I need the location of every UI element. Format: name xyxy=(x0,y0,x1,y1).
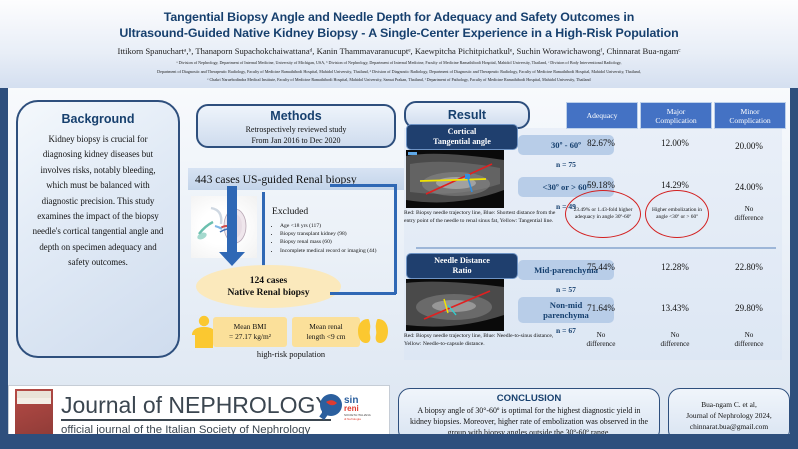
kidneys-icon xyxy=(355,316,391,346)
native-biopsy-cases-oval: 124 cases Native Renal biopsy xyxy=(196,265,341,308)
mean-renal-label: Mean renal xyxy=(309,322,342,332)
ultrasound-image-needle-distance xyxy=(406,279,504,331)
col-major-l2: Complication xyxy=(655,116,696,125)
mean-bmi-value: = 27.17 kg/m² xyxy=(229,332,271,342)
ultrasound-image-cortical-angle xyxy=(406,150,504,208)
citation-email: chinnarat.bua@gmail.com xyxy=(690,421,768,432)
mj-nodiff-l2: difference xyxy=(661,340,690,348)
annotation-adequacy-angle: 23.49% or 1.43-fold higher adequacy in a… xyxy=(565,190,641,238)
mn-nodiff-l1: No xyxy=(745,331,754,339)
total-cases-bar: 443 cases US-guided Renal biopsy xyxy=(188,168,404,190)
section-label-needle-distance-ratio: Needle DistanceRatio xyxy=(406,253,518,279)
column-header-adequacy: Adequacy xyxy=(566,102,638,129)
col-minor-l2: Complication xyxy=(729,116,770,125)
annotation-minor-needle: No difference xyxy=(714,331,784,348)
conclusion-title: CONCLUSION xyxy=(407,393,651,404)
svg-text:reni: reni xyxy=(344,404,359,413)
flow-arrow-head-icon xyxy=(219,252,245,266)
sec1-l2: Tangential angle xyxy=(433,137,491,146)
section-label-cortical-tangential-angle: CorticalTangential angle xyxy=(406,124,518,150)
affiliations-line-2: Department of Diagnostic and Therapeutic… xyxy=(0,69,798,75)
excluded-divider xyxy=(262,192,265,266)
value-adequacy-non-mid: 71.64% xyxy=(566,303,636,313)
section-divider xyxy=(416,247,776,249)
value-major-angle-30-60: 12.00% xyxy=(640,138,710,148)
mean-renal-length-box: Mean renal length <9 cm xyxy=(292,317,360,347)
methods-subtitle-2: From Jan 2016 to Dec 2020 xyxy=(198,136,394,146)
ad-nodiff-l1: No xyxy=(597,331,606,339)
citation-line-1: Bua-ngam C. et al, xyxy=(701,399,757,410)
value-minor-non-mid: 29.80% xyxy=(714,303,784,313)
excluded-title: Excluded xyxy=(272,206,308,217)
native-cases-count: 124 cases xyxy=(250,275,288,287)
right-border-strip xyxy=(790,88,798,434)
left-border-strip xyxy=(0,88,8,434)
value-minor-angle-30-60: 20.00% xyxy=(714,141,784,151)
annotation-major-angle: Higher embolization in angle <30º or > 6… xyxy=(645,190,709,238)
native-cases-label: Native Renal biopsy xyxy=(227,287,309,299)
col-minor-l1: Minor xyxy=(741,107,760,116)
mean-renal-value: length <9 cm xyxy=(306,332,345,342)
column-header-minor-complication: MinorComplication xyxy=(714,102,786,129)
n-label-angle-30-60: n = 75 xyxy=(526,160,606,169)
value-adequacy-mid-parenchyma: 75.44% xyxy=(566,262,636,272)
affiliations-line-1: ᵃ Division of Nephrology, Department of … xyxy=(0,60,798,66)
ultrasound-caption-needle-distance: Red: Biopsy needle trajectory line, Blue… xyxy=(404,333,556,348)
poster-header: Tangential Biopsy Angle and Needle Depth… xyxy=(0,0,798,88)
connector-top xyxy=(330,184,396,187)
methods-title: Methods xyxy=(198,109,394,124)
background-panel: Background Kidney biopsy is crucial for … xyxy=(16,100,180,358)
list-item: Biopsy transplant kidney (98) xyxy=(280,230,405,238)
poster-root: Tangential Biopsy Angle and Needle Depth… xyxy=(0,0,798,449)
excluded-list: Age <18 yrs (117) Biopsy transplant kidn… xyxy=(272,222,405,255)
mj-nodiff-l1: No xyxy=(671,331,680,339)
annotation-major-needle: No difference xyxy=(640,331,710,348)
col-major-l1: Major xyxy=(667,107,686,116)
background-title: Background xyxy=(29,112,167,126)
ad-nodiff-l2: difference xyxy=(587,340,616,348)
flow-arrow-stem xyxy=(227,186,237,254)
affiliations-line-3: ᵉ Chakri Naruebodindra Medical Institute… xyxy=(0,77,798,83)
ultrasound-caption-cortical-angle: Red: Biopsy needle trajectory line, Blue… xyxy=(404,210,556,225)
svg-text:di Nefrologia: di Nefrologia xyxy=(344,417,361,421)
list-item: Age <18 yrs (117) xyxy=(280,222,405,230)
mn-nodiff-l2: difference xyxy=(735,340,764,348)
journal-title: Journal of NEPHROLOGY xyxy=(61,392,331,421)
citation-line-2: Journal of Nephrology 2024, xyxy=(686,410,771,421)
value-major-angle-outside: 14.29% xyxy=(640,180,710,190)
n-label-mid-parenchyma: n = 57 xyxy=(526,285,606,294)
value-minor-mid-parenchyma: 22.80% xyxy=(714,262,784,272)
methods-subtitle-1: Retrospectively reviewed study xyxy=(198,125,394,135)
sec2-l2: Ratio xyxy=(452,266,471,275)
mean-bmi-box: Mean BMI = 27.17 kg/m² xyxy=(213,317,287,347)
methods-panel-header: Methods Retrospectively reviewed study F… xyxy=(196,104,396,148)
value-adequacy-angle-30-60: 82.67% xyxy=(566,138,636,148)
journal-cover-thumbnail xyxy=(15,389,53,439)
list-item: Biopsy renal mass (60) xyxy=(280,238,405,246)
list-item: Incomplete medical record or imaging (44… xyxy=(280,247,405,255)
background-text: Kidney biopsy is crucial for diagnosing … xyxy=(29,132,167,271)
minor-nodiff-l1: No xyxy=(745,205,754,213)
high-risk-population-label: high-risk population xyxy=(196,350,386,359)
page-title-line-1: Tangential Biopsy Angle and Needle Depth… xyxy=(0,0,798,25)
connector-vertical xyxy=(394,184,397,294)
value-major-mid-parenchyma: 12.28% xyxy=(640,262,710,272)
mean-bmi-label: Mean BMI xyxy=(234,322,267,332)
value-adequacy-angle-outside: 59.18% xyxy=(566,180,636,190)
bottom-border-strip xyxy=(0,434,798,449)
sin-society-logo-icon: sin reni SOCIETA ITALIANA di Nefrologia xyxy=(318,392,384,422)
value-minor-angle-outside: 24.00% xyxy=(714,182,784,192)
annotation-minor-angle: No difference xyxy=(714,205,784,222)
sec2-l1: Needle Distance xyxy=(434,256,490,265)
value-major-non-mid: 13.43% xyxy=(640,303,710,313)
author-list: Ittikorn Spanuchartᵃ,ᵇ, Thanaporn Supach… xyxy=(0,46,798,57)
annotation-adequacy-needle: No difference xyxy=(566,331,636,348)
sec1-l1: Cortical xyxy=(448,127,477,136)
minor-nodiff-l2: difference xyxy=(735,214,764,222)
column-header-major-complication: MajorComplication xyxy=(640,102,712,129)
kidney-biopsy-illustration xyxy=(191,196,257,258)
connector-bottom xyxy=(330,292,396,295)
page-title-line-2: Ultrasound-Guided Native Kidney Biopsy -… xyxy=(0,25,798,41)
